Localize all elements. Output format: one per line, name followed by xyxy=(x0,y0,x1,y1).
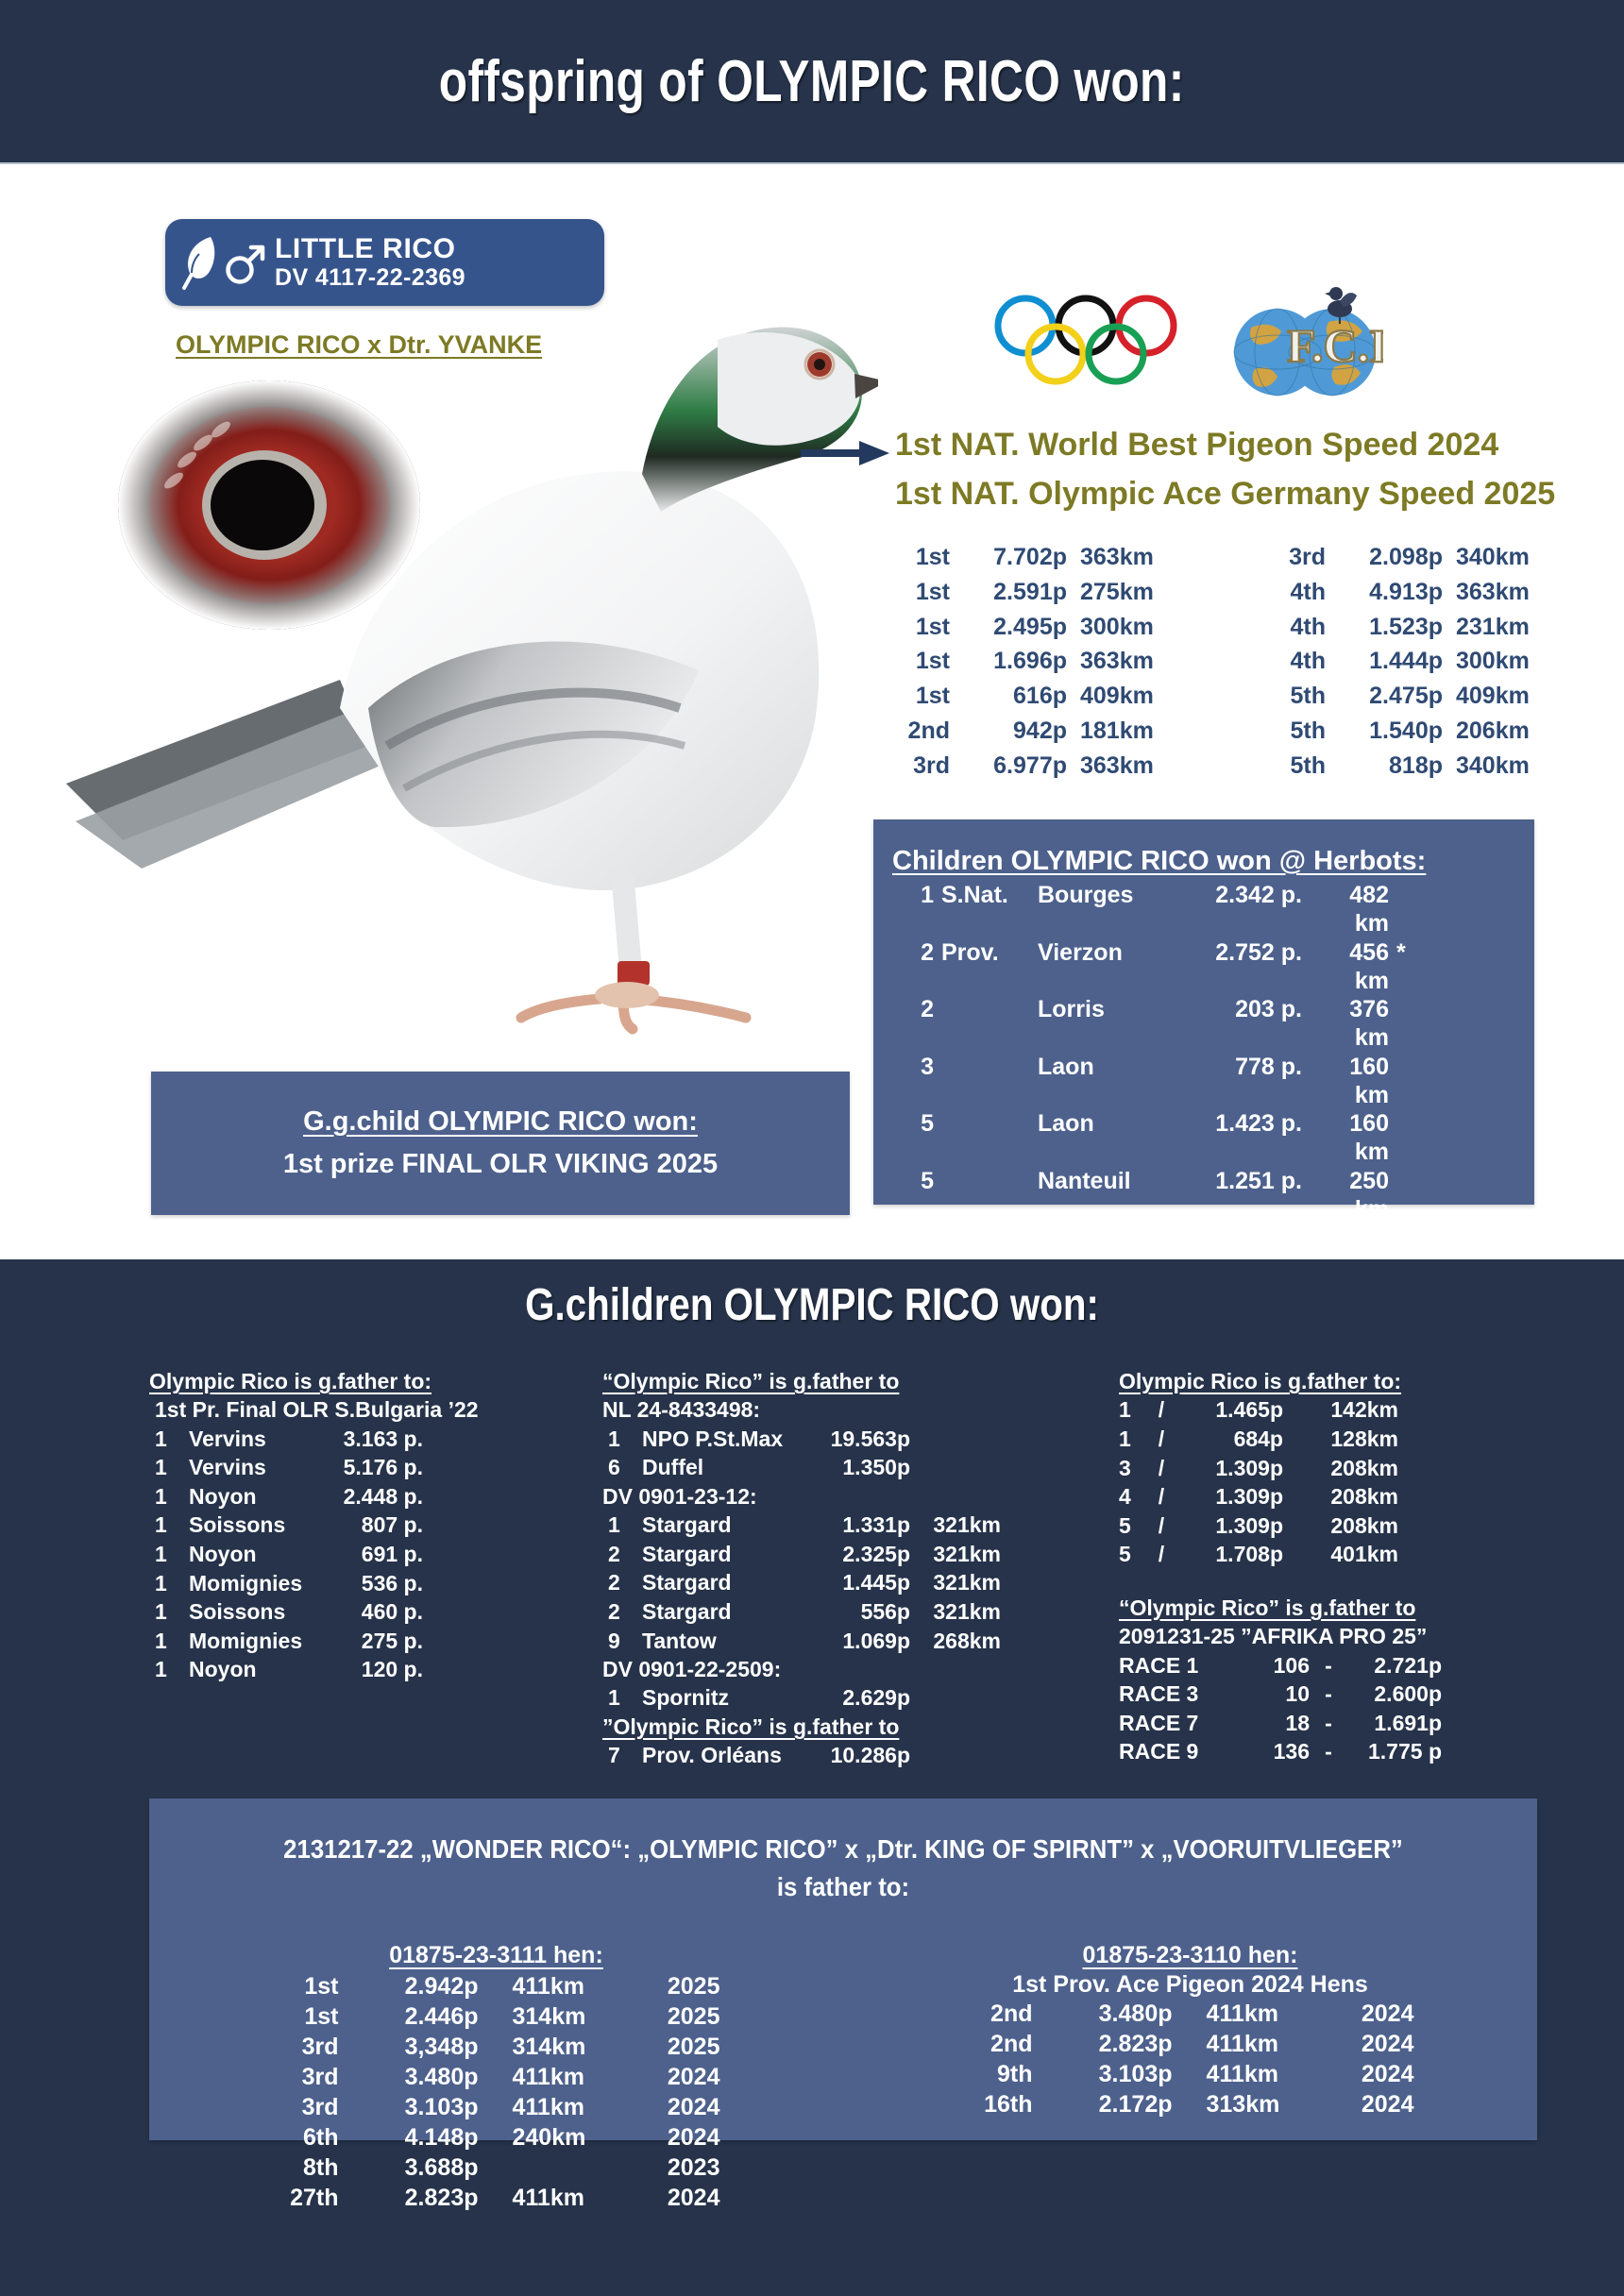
cell-w0: 27th xyxy=(273,2183,339,2213)
cell-c2: 300km xyxy=(1080,610,1175,645)
cell-w0: 3rd xyxy=(273,2092,339,2122)
gchildren-column-3: Olympic Rico is g.father to: 1/1.465p142… xyxy=(1119,1367,1563,1766)
cell-b: Momignies xyxy=(189,1627,315,1656)
cell-h2: Lorris xyxy=(1038,995,1189,1053)
eye-photo xyxy=(113,373,425,633)
cell-w0: 6th xyxy=(273,2122,339,2152)
cell-a: RACE 7 xyxy=(1119,1709,1232,1738)
gc2-heading-2: ”Olympic Rico” is g.father to xyxy=(602,1713,1065,1741)
cell-w2: 411km xyxy=(1207,2059,1305,2089)
table-row: 1st7.702p363km xyxy=(895,540,1180,575)
cell-w0: 9th xyxy=(967,2059,1033,2089)
cell-w1: 3.103p xyxy=(373,2092,479,2122)
cell-b: Stargard xyxy=(642,1540,803,1569)
table-row: 2Stargard1.445p321km xyxy=(602,1568,1065,1597)
cell-c0: 1st xyxy=(895,679,950,714)
cell-d: 321km xyxy=(920,1540,1001,1569)
table-row: 27th2.823p411km2024 xyxy=(273,2183,720,2213)
wonder-left-rows: 1st2.942p411km20251st2.446p314km20253rd3… xyxy=(273,1971,720,2213)
herbots-title: Children OLYMPIC RICO won @ Herbots: xyxy=(892,846,1534,877)
logo-group: F.C.I. xyxy=(982,274,1379,406)
wonder-right-heading: 01875-23-3110 hen: xyxy=(1083,1942,1298,1969)
cell-b: Stargard xyxy=(642,1597,803,1627)
gchildren-column-1: Olympic Rico is g.father to: 1st Pr. Fin… xyxy=(149,1367,555,1684)
cell-h5 xyxy=(1396,1053,1415,1110)
cell-c2: 409km xyxy=(1456,679,1550,714)
table-row: 1Momignies536 p. xyxy=(149,1569,555,1598)
page-title: offspring of OLYMPIC RICO won: xyxy=(439,48,1185,115)
table-row: 3Laon778 p.160 km xyxy=(892,1053,1534,1110)
table-row: 3rd3,348p314km2025 xyxy=(273,2032,720,2062)
table-row: 5/1.708p401km xyxy=(1119,1540,1563,1569)
cell-w0: 1st xyxy=(273,1971,339,2001)
cell-c: 691 p. xyxy=(325,1540,423,1569)
gc3-bird: 2091231-25 ”AFRIKA PRO 25” xyxy=(1119,1622,1563,1650)
table-row: 3rd6.977p363km xyxy=(895,749,1180,784)
cell-d xyxy=(920,1425,1001,1454)
cell-c0: 2nd xyxy=(895,714,950,749)
cell-c: 120 p. xyxy=(325,1655,423,1684)
pigeon-photo xyxy=(57,179,878,1123)
gc3-heading: Olympic Rico is g.father to: xyxy=(1119,1367,1563,1395)
cell-a: RACE 1 xyxy=(1119,1651,1232,1680)
cell-h2: Laon xyxy=(1038,1109,1189,1167)
cell-w1: 2.446p xyxy=(373,2001,479,2032)
table-row: 9th3.103p411km2024 xyxy=(967,2059,1414,2089)
top-header-band: offspring of OLYMPIC RICO won: xyxy=(0,0,1624,162)
cell-c1: 942p xyxy=(963,714,1067,749)
cell-c0: 4th xyxy=(1271,610,1326,645)
table-row: 1/684p128km xyxy=(1119,1425,1563,1454)
cell-c2: 363km xyxy=(1080,540,1175,575)
cell-b: Soissons xyxy=(189,1597,315,1627)
gc1-heading: Olympic Rico is g.father to: xyxy=(149,1367,555,1395)
cell-w3: 2025 xyxy=(645,1971,720,2001)
cell-a: 1 xyxy=(155,1425,179,1454)
cell-a: 1 xyxy=(608,1683,633,1713)
cell-c0: 5th xyxy=(1271,714,1326,749)
cell-b: / xyxy=(1151,1454,1172,1483)
cell-b: Prov. Orléans xyxy=(642,1741,803,1770)
cell-c0: 5th xyxy=(1271,679,1326,714)
cell-h0: 2 xyxy=(892,995,934,1053)
cell-h0: 2 xyxy=(892,938,934,996)
cell-w3: 2025 xyxy=(645,2001,720,2032)
table-row: 1Noyon120 p. xyxy=(149,1655,555,1684)
table-row: 1Vervins3.163 p. xyxy=(149,1425,555,1454)
cell-w3: 2024 xyxy=(1339,1999,1414,2029)
gc2-bird1: NL 24-8433498: xyxy=(602,1395,1065,1424)
cell-w2: 411km xyxy=(513,1971,611,2001)
cell-c: 1.069p xyxy=(812,1627,910,1656)
cell-h1: Prov. xyxy=(941,938,1030,996)
cell-c0: 1st xyxy=(895,575,950,610)
wonder-columns: 01875-23-3111 hen: 1st2.942p411km20251st… xyxy=(149,1942,1537,2213)
cell-h1 xyxy=(941,1167,1030,1224)
cell-a: 4 xyxy=(1119,1482,1140,1511)
table-row: 1st2.446p314km2025 xyxy=(273,2001,720,2032)
poster-page: offspring of OLYMPIC RICO won: xyxy=(0,0,1624,2296)
cell-c: 1.465p xyxy=(1183,1395,1283,1425)
cell-b: / xyxy=(1151,1540,1172,1569)
table-row: 2Stargard2.325p321km xyxy=(602,1540,1065,1569)
cell-h0: 5 xyxy=(892,1167,934,1224)
cell-b: / xyxy=(1151,1511,1172,1541)
table-row: 5th2.475p409km xyxy=(1271,679,1556,714)
table-row: 4th4.913p363km xyxy=(1271,575,1556,610)
feather-icon xyxy=(180,233,220,292)
cell-c1: 4.913p xyxy=(1339,575,1443,610)
cell-c: 807 p. xyxy=(325,1511,423,1540)
cell-c0: 1st xyxy=(895,610,950,645)
gc2-rows-3: 1Spornitz2.629p xyxy=(602,1683,1065,1713)
cell-w0: 2nd xyxy=(967,1999,1033,2029)
cell-h3: 778 p. xyxy=(1196,1053,1302,1110)
cell-c: 556p xyxy=(812,1597,910,1627)
table-row: 6th4.148p240km2024 xyxy=(273,2122,720,2152)
table-row: 7Prov. Orléans10.286p xyxy=(602,1741,1065,1770)
cell-c1: 2.475p xyxy=(1339,679,1443,714)
cell-a: 1 xyxy=(155,1482,179,1511)
table-row: 2nd942p181km xyxy=(895,714,1180,749)
cell-d: 321km xyxy=(920,1568,1001,1597)
cell-c: 1.708p xyxy=(1183,1540,1283,1569)
ggchild-prize: 1st prize FINAL OLR VIKING 2025 xyxy=(283,1149,718,1180)
table-row: 1Noyon2.448 p. xyxy=(149,1482,555,1511)
gc2-bird2: DV 0901-23-12: xyxy=(602,1482,1065,1511)
cell-h2: Bourges xyxy=(1038,881,1189,938)
cell-d: 1.691p xyxy=(1347,1709,1442,1738)
cell-a: 6 xyxy=(608,1453,633,1482)
cell-a: 9 xyxy=(608,1627,633,1656)
cell-h5 xyxy=(1396,1167,1415,1224)
gc2-rows-1: 1NPO P.St.Max19.563p6Duffel1.350p xyxy=(602,1425,1065,1482)
cell-d: 321km xyxy=(920,1597,1001,1627)
cell-d xyxy=(920,1741,1001,1770)
table-row: 1Soissons460 p. xyxy=(149,1597,555,1627)
table-row: 1Noyon691 p. xyxy=(149,1540,555,1569)
cell-a: 5 xyxy=(1119,1540,1140,1569)
table-row: 1Soissons807 p. xyxy=(149,1511,555,1540)
cell-w3: 2024 xyxy=(645,2122,720,2152)
cell-h4: 482 km xyxy=(1310,881,1389,938)
table-row: 4/1.309p208km xyxy=(1119,1482,1563,1511)
cell-h4: 376 km xyxy=(1310,995,1389,1053)
cell-b: Spornitz xyxy=(642,1683,803,1713)
gold-title-olympic-ace: 1st NAT. Olympic Ace Germany Speed 2025 xyxy=(895,476,1555,513)
cell-h1: S.Nat. xyxy=(941,881,1030,938)
table-row: 8th3.688p2023 xyxy=(273,2152,720,2183)
cell-b: 106 xyxy=(1242,1651,1310,1680)
herbots-children-box: Children OLYMPIC RICO won @ Herbots: 1S.… xyxy=(873,819,1534,1205)
cell-d: 2.600p xyxy=(1347,1680,1442,1709)
cell-a: 1 xyxy=(608,1511,633,1540)
cell-d: 268km xyxy=(920,1627,1001,1656)
cell-a: 2 xyxy=(608,1597,633,1627)
cell-c: 19.563p xyxy=(812,1425,910,1454)
cell-c: 684p xyxy=(1183,1425,1283,1454)
cell-w2: 411km xyxy=(1207,1999,1305,2029)
cell-c1: 2.591p xyxy=(963,575,1067,610)
gc2-rows-4: 7Prov. Orléans10.286p xyxy=(602,1741,1065,1770)
cell-d: 208km xyxy=(1294,1482,1398,1511)
wonder-column-right: 01875-23-3110 hen: 1st Prov. Ace Pigeon … xyxy=(843,1942,1537,2213)
cell-a: 2 xyxy=(608,1568,633,1597)
svg-text:F.C.I.: F.C.I. xyxy=(1287,319,1383,372)
cell-h3: 2.342 p. xyxy=(1196,881,1302,938)
cell-w1: 2.172p xyxy=(1067,2089,1173,2119)
cell-h1 xyxy=(941,1053,1030,1110)
male-symbol-icon xyxy=(224,239,265,286)
cell-w2: 411km xyxy=(1207,2029,1305,2059)
table-row: 2Stargard556p321km xyxy=(602,1597,1065,1627)
cell-a: 1 xyxy=(155,1597,179,1627)
cell-a: 3 xyxy=(1119,1454,1140,1483)
table-row: RACE 310-2.600p xyxy=(1119,1680,1563,1709)
cell-c0: 5th xyxy=(1271,749,1326,784)
table-row: 1Vervins5.176 p. xyxy=(149,1453,555,1482)
cell-c: - xyxy=(1319,1651,1338,1680)
cell-c: - xyxy=(1319,1709,1338,1738)
cell-w1: 4.148p xyxy=(373,2122,479,2152)
cell-h2: Vierzon xyxy=(1038,938,1189,996)
cell-b: NPO P.St.Max xyxy=(642,1425,803,1454)
cell-w2: 313km xyxy=(1207,2089,1305,2119)
gchildren-column-2: “Olympic Rico” is g.father to NL 24-8433… xyxy=(602,1367,1065,1770)
cell-b: Vervins xyxy=(189,1453,315,1482)
cell-a: 1 xyxy=(155,1655,179,1684)
cell-d: 208km xyxy=(1294,1511,1398,1541)
cell-c2: 340km xyxy=(1456,749,1550,784)
table-row: 3rd3.103p411km2024 xyxy=(273,2092,720,2122)
ggchild-box: G.g.child OLYMPIC RICO won: 1st prize FI… xyxy=(151,1072,850,1215)
cell-c0: 4th xyxy=(1271,575,1326,610)
cell-a: 5 xyxy=(1119,1511,1140,1541)
cell-h1 xyxy=(941,995,1030,1053)
table-row: 5Nanteuil1.251 p.250 km xyxy=(892,1167,1534,1224)
cell-w2: 240km xyxy=(513,2122,611,2152)
cell-b: Noyon xyxy=(189,1540,315,1569)
cell-w3: 2023 xyxy=(645,2152,720,2183)
cell-w0: 16th xyxy=(967,2089,1033,2119)
cell-c1: 2.098p xyxy=(1339,540,1443,575)
cell-c: 1.331p xyxy=(812,1511,910,1540)
cell-d: 321km xyxy=(920,1511,1001,1540)
gc1-rows: 1Vervins3.163 p.1Vervins5.176 p.1Noyon2.… xyxy=(149,1425,555,1684)
cell-b: 10 xyxy=(1242,1680,1310,1709)
table-row: 5th1.540p206km xyxy=(1271,714,1556,749)
cell-c1: 2.495p xyxy=(963,610,1067,645)
cell-b: 136 xyxy=(1242,1737,1310,1766)
cell-c2: 409km xyxy=(1080,679,1175,714)
wonder-right-subheading: 1st Prov. Ace Pigeon 2024 Hens xyxy=(1012,1971,1368,1999)
cell-c2: 206km xyxy=(1456,714,1550,749)
cell-c: 3.163 p. xyxy=(325,1425,423,1454)
gc3-race-rows: RACE 1106-2.721pRACE 310-2.600pRACE 718-… xyxy=(1119,1651,1563,1766)
cell-w1: 2.942p xyxy=(373,1971,479,2001)
cell-a: 1 xyxy=(155,1627,179,1656)
olympic-rings-icon xyxy=(991,288,1180,392)
cell-d: 2.721p xyxy=(1347,1651,1442,1680)
table-row: 2nd2.823p411km2024 xyxy=(967,2029,1414,2059)
parents-line: OLYMPIC RICO x Dtr. YVANKE xyxy=(176,330,542,360)
cell-h5 xyxy=(1396,881,1415,938)
cell-b: Tantow xyxy=(642,1627,803,1656)
cell-b: Stargard xyxy=(642,1568,803,1597)
cell-h4: 456 km xyxy=(1310,938,1389,996)
gchildren-section-title: G.children OLYMPIC RICO won: xyxy=(130,1279,1495,1331)
cell-w1: 3.480p xyxy=(373,2062,479,2092)
fci-globe-icon: F.C.I. xyxy=(1223,279,1383,401)
cell-b: Momignies xyxy=(189,1569,315,1598)
cell-c1: 1.696p xyxy=(963,644,1067,679)
arrow-right-icon xyxy=(801,439,891,467)
cell-c1: 1.523p xyxy=(1339,610,1443,645)
main-results-table: 1st7.702p363km1st2.591p275km1st2.495p300… xyxy=(895,540,1556,783)
cell-w2: 411km xyxy=(513,2062,611,2092)
cell-h0: 5 xyxy=(892,1109,934,1167)
wonder-column-left: 01875-23-3111 hen: 1st2.942p411km20251st… xyxy=(149,1942,843,2213)
table-row: 1Momignies275 p. xyxy=(149,1627,555,1656)
table-row: 3/1.309p208km xyxy=(1119,1454,1563,1483)
cell-d: 128km xyxy=(1294,1425,1398,1454)
cell-w0: 2nd xyxy=(967,2029,1033,2059)
cell-h3: 203 p. xyxy=(1196,995,1302,1053)
cell-h2: Laon xyxy=(1038,1053,1189,1110)
table-row: RACE 718-1.691p xyxy=(1119,1709,1563,1738)
table-row: RACE 1106-2.721p xyxy=(1119,1651,1563,1680)
cell-a: 1 xyxy=(1119,1425,1140,1454)
table-row: 1st616p409km xyxy=(895,679,1180,714)
cell-h5 xyxy=(1396,1109,1415,1167)
cell-b: Stargard xyxy=(642,1511,803,1540)
cell-c2: 363km xyxy=(1080,644,1175,679)
cell-b: / xyxy=(1151,1482,1172,1511)
cell-h3: 1.423 p. xyxy=(1196,1109,1302,1167)
cell-h4: 160 km xyxy=(1310,1053,1389,1110)
table-row: 4th1.523p231km xyxy=(1271,610,1556,645)
cell-c1: 1.540p xyxy=(1339,714,1443,749)
cell-b: / xyxy=(1151,1425,1172,1454)
cell-c: 536 p. xyxy=(325,1569,423,1598)
cell-c: 1.309p xyxy=(1183,1454,1283,1483)
cell-d: 208km xyxy=(1294,1454,1398,1483)
results-column-left: 1st7.702p363km1st2.591p275km1st2.495p300… xyxy=(895,540,1180,783)
cell-h3: 2.752 p. xyxy=(1196,938,1302,996)
cell-w2: 314km xyxy=(513,2032,611,2062)
cell-h5 xyxy=(1396,995,1415,1053)
cell-w3: 2024 xyxy=(645,2092,720,2122)
gc2-rows-2: 1Stargard1.331p321km2Stargard2.325p321km… xyxy=(602,1511,1065,1655)
table-row: 1NPO P.St.Max19.563p xyxy=(602,1425,1065,1454)
pigeon-id-badge[interactable]: LITTLE RICO DV 4117-22-2369 xyxy=(165,219,604,306)
cell-b: 18 xyxy=(1242,1709,1310,1738)
cell-c2: 231km xyxy=(1456,610,1550,645)
cell-c: 275 p. xyxy=(325,1627,423,1656)
table-row: 1st2.942p411km2025 xyxy=(273,1971,720,2001)
table-row: 3rd3.480p411km2024 xyxy=(273,2062,720,2092)
table-row: 1/1.465p142km xyxy=(1119,1395,1563,1425)
cell-c: 10.286p xyxy=(812,1741,910,1770)
cell-w3: 2024 xyxy=(1339,2089,1414,2119)
cell-a: 1 xyxy=(1119,1395,1140,1425)
cell-h1 xyxy=(941,1109,1030,1167)
cell-w0: 8th xyxy=(273,2152,339,2183)
cell-c: - xyxy=(1319,1737,1338,1766)
cell-a: 1 xyxy=(155,1540,179,1569)
gc3-rows: 1/1.465p142km1/684p128km3/1.309p208km4/1… xyxy=(1119,1395,1563,1568)
cell-w0: 3rd xyxy=(273,2062,339,2092)
table-row: 4th1.444p300km xyxy=(1271,644,1556,679)
cell-c: 5.176 p. xyxy=(325,1453,423,1482)
cell-w3: 2024 xyxy=(645,2062,720,2092)
table-row: 5Laon1.423 p.160 km xyxy=(892,1109,1534,1167)
table-row: 5/1.309p208km xyxy=(1119,1511,1563,1541)
cell-w2: 411km xyxy=(513,2183,611,2213)
gc2-bird3: DV 0901-22-2509: xyxy=(602,1655,1065,1683)
cell-a: 1 xyxy=(155,1569,179,1598)
cell-w0: 3rd xyxy=(273,2032,339,2062)
cell-c0: 3rd xyxy=(1271,540,1326,575)
cell-d: 142km xyxy=(1294,1395,1398,1425)
cell-c2: 363km xyxy=(1080,749,1175,784)
cell-c: 1.309p xyxy=(1183,1511,1283,1541)
cell-b: / xyxy=(1151,1395,1172,1425)
wonder-right-rows: 2nd3.480p411km20242nd2.823p411km20249th3… xyxy=(967,1999,1414,2119)
cell-w0: 1st xyxy=(273,2001,339,2032)
wonder-father-to-line: is father to: xyxy=(205,1872,1481,1902)
cell-b: Noyon xyxy=(189,1655,315,1684)
cell-h0: 1 xyxy=(892,881,934,938)
cell-w1: 3.480p xyxy=(1067,1999,1173,2029)
cell-a: 2 xyxy=(608,1540,633,1569)
ggchild-title: G.g.child OLYMPIC RICO won: xyxy=(303,1106,698,1138)
cell-c: - xyxy=(1319,1680,1338,1709)
cell-w1: 3.688p xyxy=(373,2152,479,2183)
table-row: 1st1.696p363km xyxy=(895,644,1180,679)
table-row: 5th818p340km xyxy=(1271,749,1556,784)
cell-c: 2.629p xyxy=(812,1683,910,1713)
gc3-spacer xyxy=(1119,1569,1563,1594)
pigeon-ring-number: DV 4117-22-2369 xyxy=(275,264,465,291)
table-row: 2Prov.Vierzon2.752 p.456 km* xyxy=(892,938,1534,996)
gc2-heading: “Olympic Rico” is g.father to xyxy=(602,1367,1065,1395)
cell-h2: Nanteuil xyxy=(1038,1167,1189,1224)
wonder-pedigree-line: 2131217-22 „WONDER RICO“: „OLYMPIC RICO”… xyxy=(205,1834,1481,1865)
table-row: 3rd2.098p340km xyxy=(1271,540,1556,575)
table-row: 1st2.591p275km xyxy=(895,575,1180,610)
cell-b: Duffel xyxy=(642,1453,803,1482)
cell-b: Vervins xyxy=(189,1425,315,1454)
cell-a: 1 xyxy=(155,1511,179,1540)
cell-d: 1.775 p xyxy=(1347,1737,1442,1766)
gc3-heading-2: “Olympic Rico” is g.father to xyxy=(1119,1594,1563,1622)
cell-h3: 1.251 p. xyxy=(1196,1167,1302,1224)
cell-b: Soissons xyxy=(189,1511,315,1540)
cell-c2: 275km xyxy=(1080,575,1175,610)
cell-d xyxy=(920,1453,1001,1482)
cell-w1: 3,348p xyxy=(373,2032,479,2062)
table-row: 1S.Nat.Bourges2.342 p.482 km xyxy=(892,881,1534,938)
cell-c2: 363km xyxy=(1456,575,1550,610)
cell-a: RACE 3 xyxy=(1119,1680,1232,1709)
table-row: 6Duffel1.350p xyxy=(602,1453,1065,1482)
gchildren-columns: Olympic Rico is g.father to: 1st Pr. Fin… xyxy=(0,1367,1624,1745)
cell-d xyxy=(920,1683,1001,1713)
cell-h5: * xyxy=(1396,938,1415,996)
cell-b: Noyon xyxy=(189,1482,315,1511)
cell-c0: 1st xyxy=(895,644,950,679)
